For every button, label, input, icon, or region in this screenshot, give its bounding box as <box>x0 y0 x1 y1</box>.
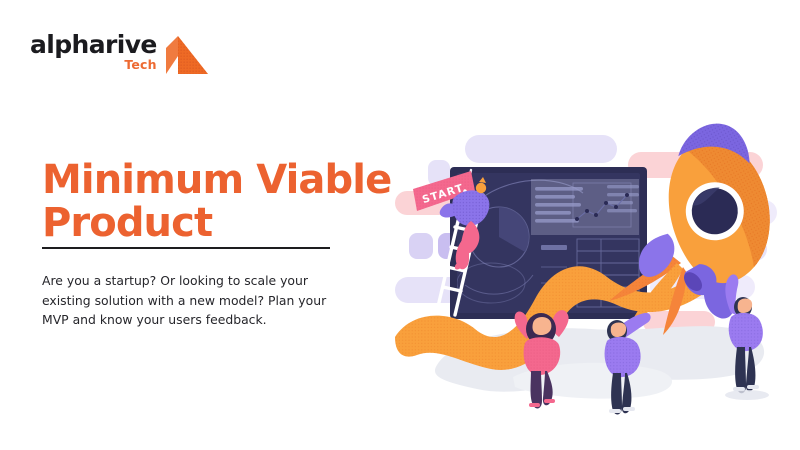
mountain-arrow-logomark-icon <box>162 34 210 81</box>
mvp-rocket-launch-illustration: START <box>395 115 800 415</box>
brand-logo-text: alpharive Tech <box>30 32 157 72</box>
title-divider <box>42 247 330 249</box>
brand-name: alpharive <box>30 32 157 57</box>
hero-description: Are you a startup? Or looking to scale y… <box>42 271 342 329</box>
page-title: Minimum Viable Product <box>42 159 422 245</box>
brand-subtitle: Tech <box>124 59 156 72</box>
brand-logo: alpharive Tech <box>30 32 210 81</box>
slide-canvas: alpharive Tech Minimum Viable Product Ar… <box>0 0 800 450</box>
